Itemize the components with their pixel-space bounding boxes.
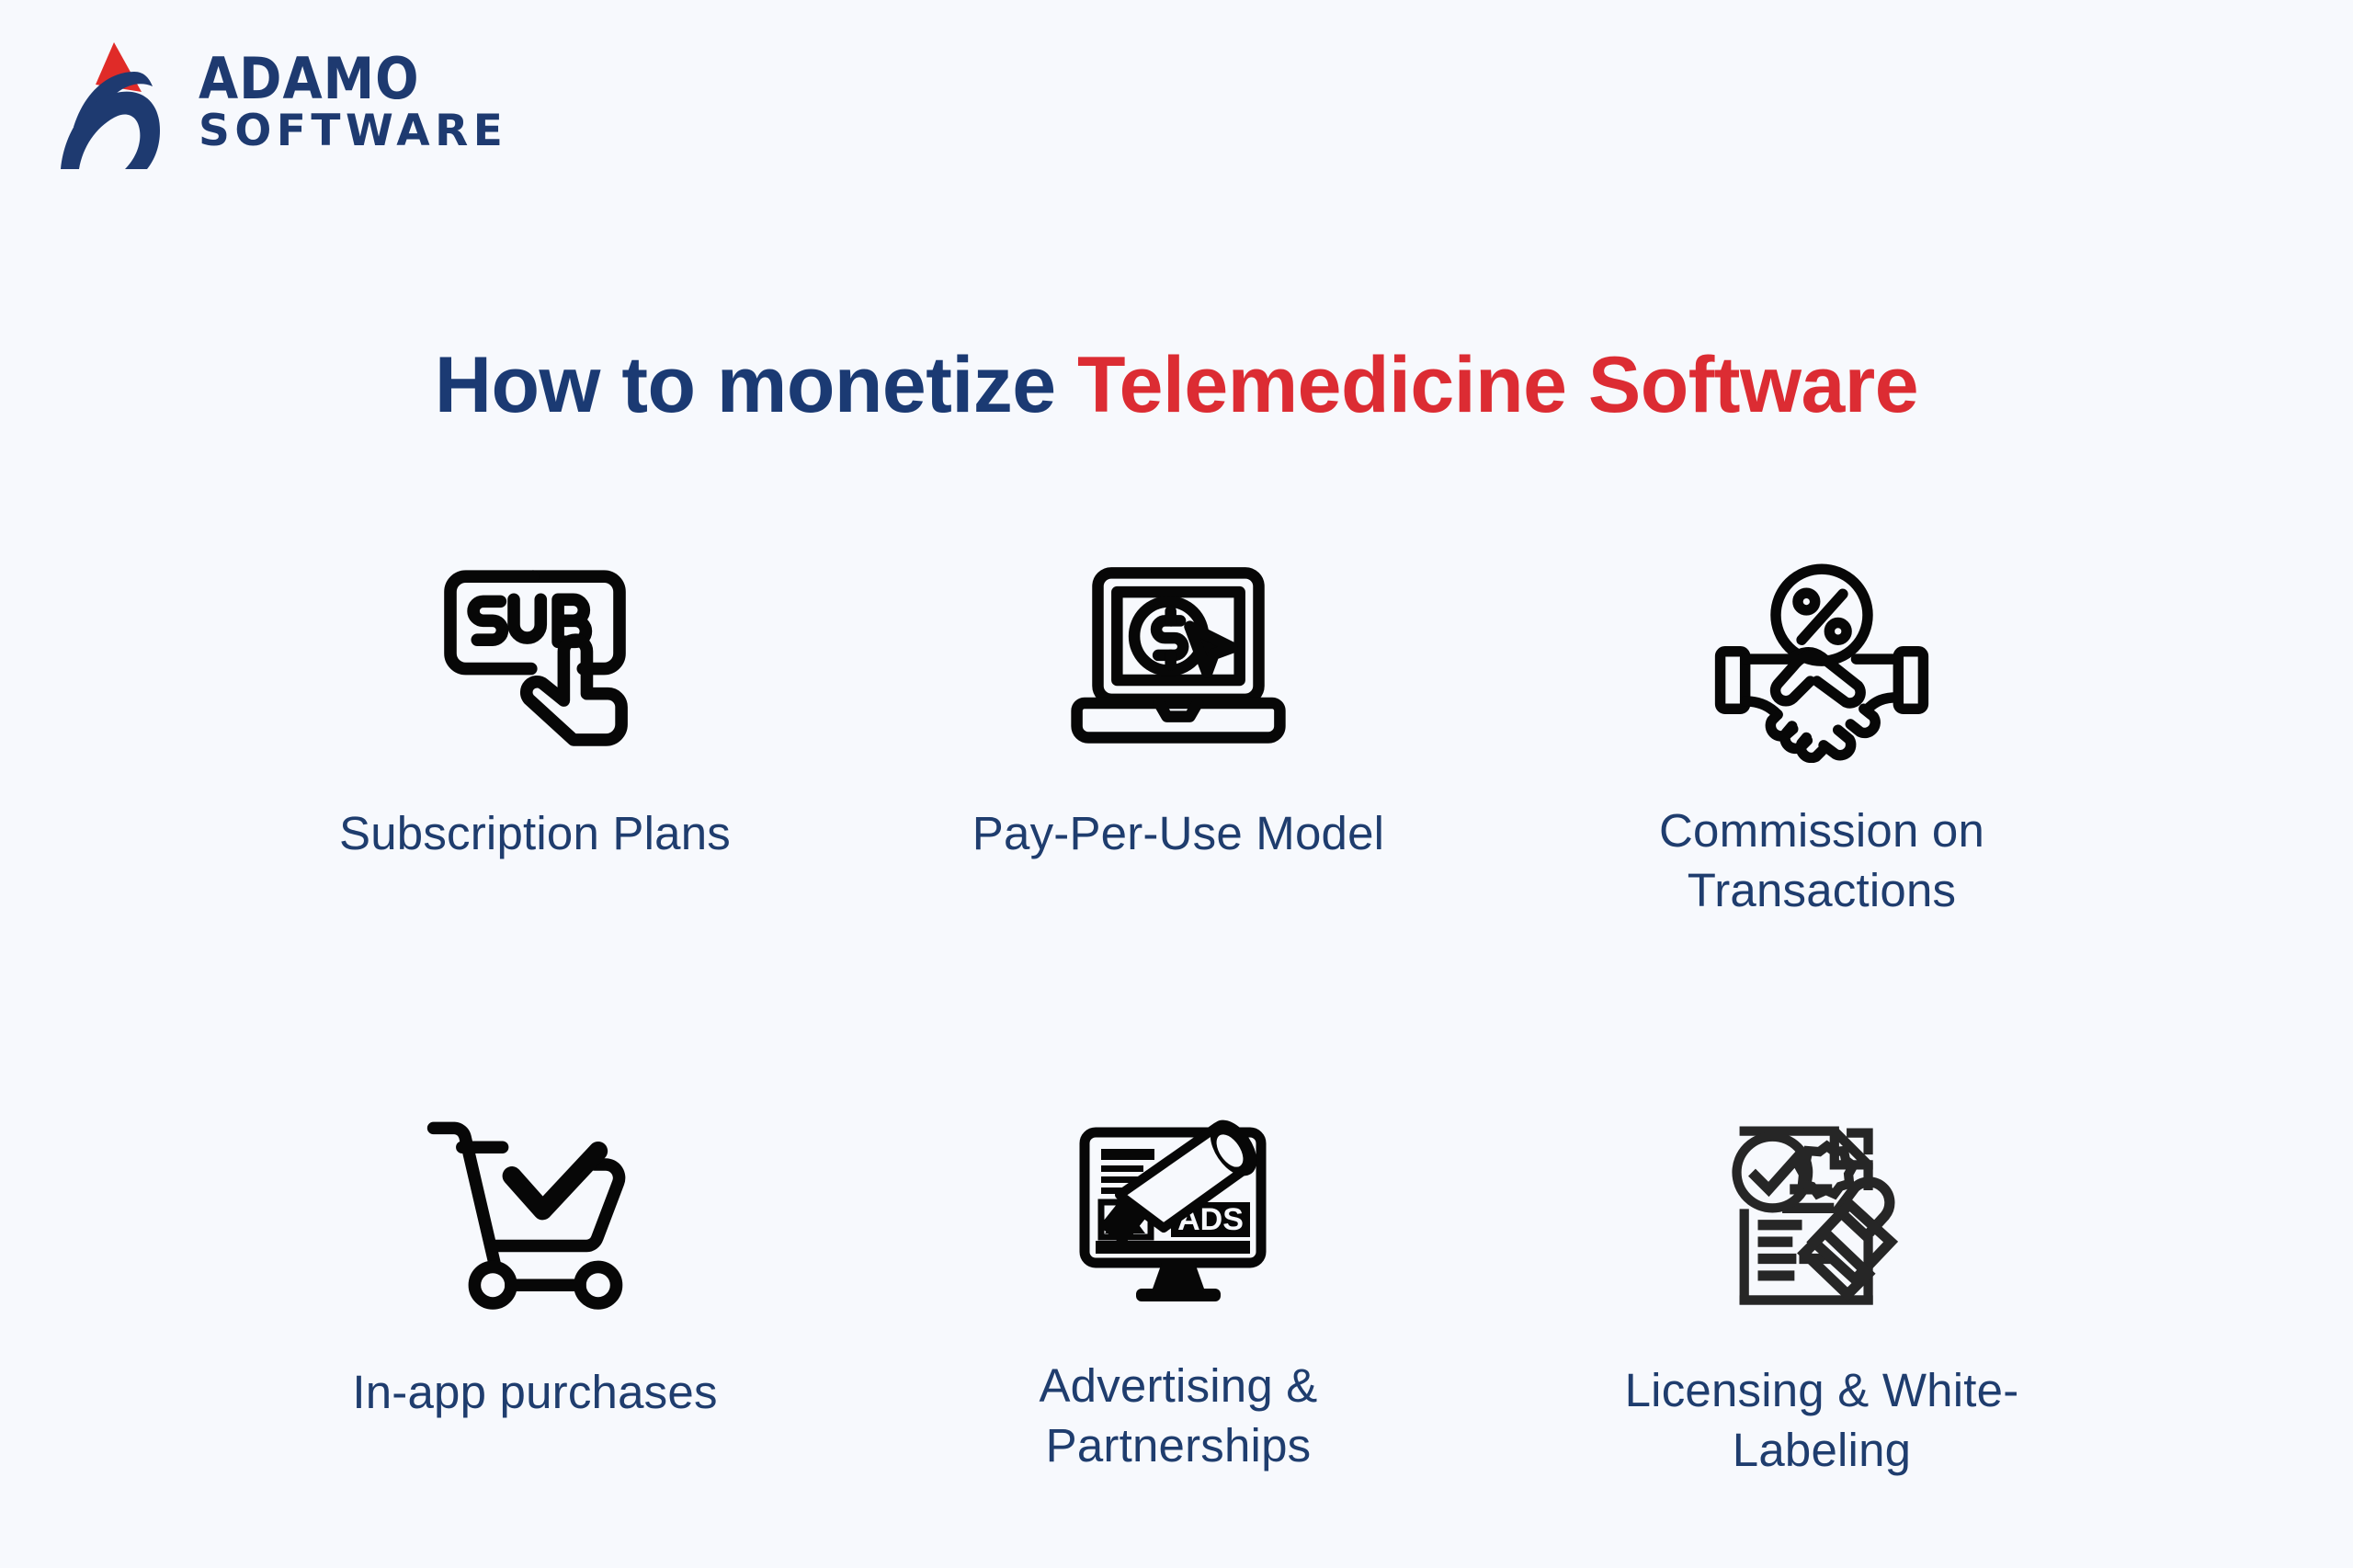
method-label: Advertising & Partnerships: [939, 1357, 1417, 1476]
laptop-dollar-cursor-icon: [1063, 551, 1293, 766]
brand-name-line2: SOFTWARE: [199, 110, 507, 153]
method-card-subscription-plans: Subscription Plans: [213, 551, 857, 864]
shopping-cart-check-icon: [420, 1110, 650, 1319]
method-label: Pay-Per-Use Model: [972, 804, 1384, 864]
handshake-percent-icon: [1707, 551, 1937, 763]
page-title: How to monetize Telemedicine Software: [0, 340, 2353, 431]
monitor-megaphone-ads-icon: ADS: [1068, 1110, 1289, 1312]
brand-wordmark: ADAMO SOFTWARE: [199, 51, 507, 153]
brand-name-line1: ADAMO: [199, 51, 507, 108]
document-stamp-approved-icon: [1714, 1110, 1930, 1317]
monetization-method-grid: Subscription Plans Pay-Per-Use Model: [213, 551, 2143, 1423]
page-title-accent: Telemedicine Software: [1077, 341, 1918, 429]
method-card-licensing-white-labeling: Licensing & White-Labeling: [1500, 1110, 2143, 1423]
method-label: Subscription Plans: [339, 804, 731, 864]
method-label: In-app purchases: [352, 1363, 717, 1423]
method-card-pay-per-use-model: Pay-Per-Use Model: [857, 551, 1500, 864]
sub-button-click-icon: [429, 551, 641, 766]
method-card-in-app-purchases: In-app purchases: [213, 1110, 857, 1423]
method-label: Commission on Transactions: [1583, 801, 2061, 921]
method-card-advertising-partnerships: ADS Advertising & Partnerships: [857, 1110, 1500, 1423]
page-title-primary: How to monetize: [435, 341, 1077, 429]
method-card-commission-on-transactions: Commission on Transactions: [1500, 551, 2143, 864]
adamo-arrow-logo-icon: [57, 35, 175, 169]
method-label: Licensing & White-Labeling: [1583, 1361, 2061, 1481]
brand-logo: ADAMO SOFTWARE: [57, 35, 507, 169]
